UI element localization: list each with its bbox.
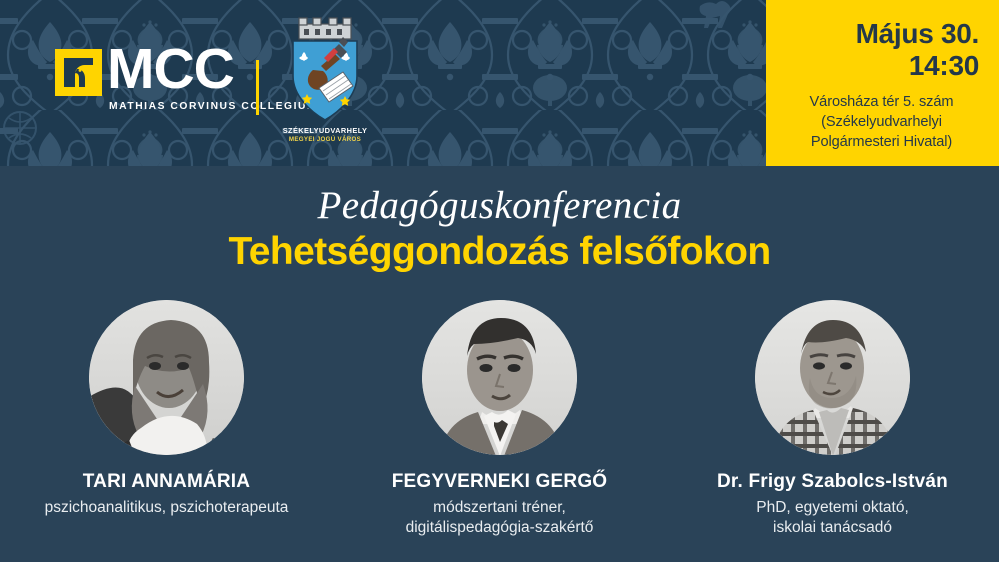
logo-divider [256,60,259,115]
mcc-raven-mark-icon [55,49,102,96]
poster-header: MCC MATHIAS CORVINUS COLLEGIUM [0,0,999,166]
event-date: Május 30. 14:30 [780,18,983,83]
event-address-line1: Városháza tér 5. szám [780,93,983,113]
speaker-name: TARI ANNAMÁRIA [0,471,333,493]
speaker-role: PhD, egyetemi oktató, iskolai tanácsadó [666,498,999,538]
mcc-logo-letters: MCC [107,41,234,98]
speakers-row: TARI ANNAMÁRIA pszichoanalitikus, pszich… [0,300,999,538]
speaker-portrait [755,300,910,455]
speaker-portrait [422,300,577,455]
speaker-role-line1: módszertani tréner, [333,498,666,518]
speaker-name: FEGYVERNEKI GERGŐ [333,471,666,493]
speaker-role-line2: digitálispedagógia-szakértő [333,518,666,538]
szekelyudvarhely-coat-of-arms: SZÉKELYUDVARHELY MEGYEI JOGÚ VÁROS [277,14,373,154]
speaker-role-line1: PhD, egyetemi oktató, [666,498,999,518]
event-address-line3: Polgármesteri Hivatal) [780,133,983,153]
event-address: Városháza tér 5. szám (Székelyudvarhelyi… [780,93,983,153]
event-date-line1: Május 30. [780,18,979,50]
speaker-card: FEGYVERNEKI GERGŐ módszertani tréner, di… [333,300,666,538]
event-time-line: 14:30 [780,50,979,82]
speaker-role-line1: pszichoanalitikus, pszichoterapeuta [0,498,333,518]
coat-of-arms-city-label: SZÉKELYUDVARHELY [277,126,373,135]
title-block: Pedagóguskonferencia Tehetséggondozás fe… [0,186,999,274]
date-location-box: Május 30. 14:30 Városháza tér 5. szám (S… [766,0,999,166]
speaker-role: pszichoanalitikus, pszichoterapeuta [0,498,333,518]
event-address-line2: (Székelyudvarhelyi [780,113,983,133]
speaker-role: módszertani tréner, digitálispedagógia-s… [333,498,666,538]
speaker-name: Dr. Frigy Szabolcs-István [666,471,999,493]
event-main-title: Tehetséggondozás felsőfokon [0,231,999,274]
speaker-role-line2: iskolai tanácsadó [666,518,999,538]
coat-of-arms-status-label: MEGYEI JOGÚ VÁROS [277,136,373,143]
event-type-title: Pedagóguskonferencia [0,186,999,225]
speaker-card: TARI ANNAMÁRIA pszichoanalitikus, pszich… [0,300,333,538]
speaker-portrait [89,300,244,455]
mcc-logo: MCC MATHIAS CORVINUS COLLEGIUM [55,47,235,115]
speaker-card: Dr. Frigy Szabolcs-István PhD, egyetemi … [666,300,999,538]
conference-poster: MCC MATHIAS CORVINUS COLLEGIUM [0,0,999,562]
